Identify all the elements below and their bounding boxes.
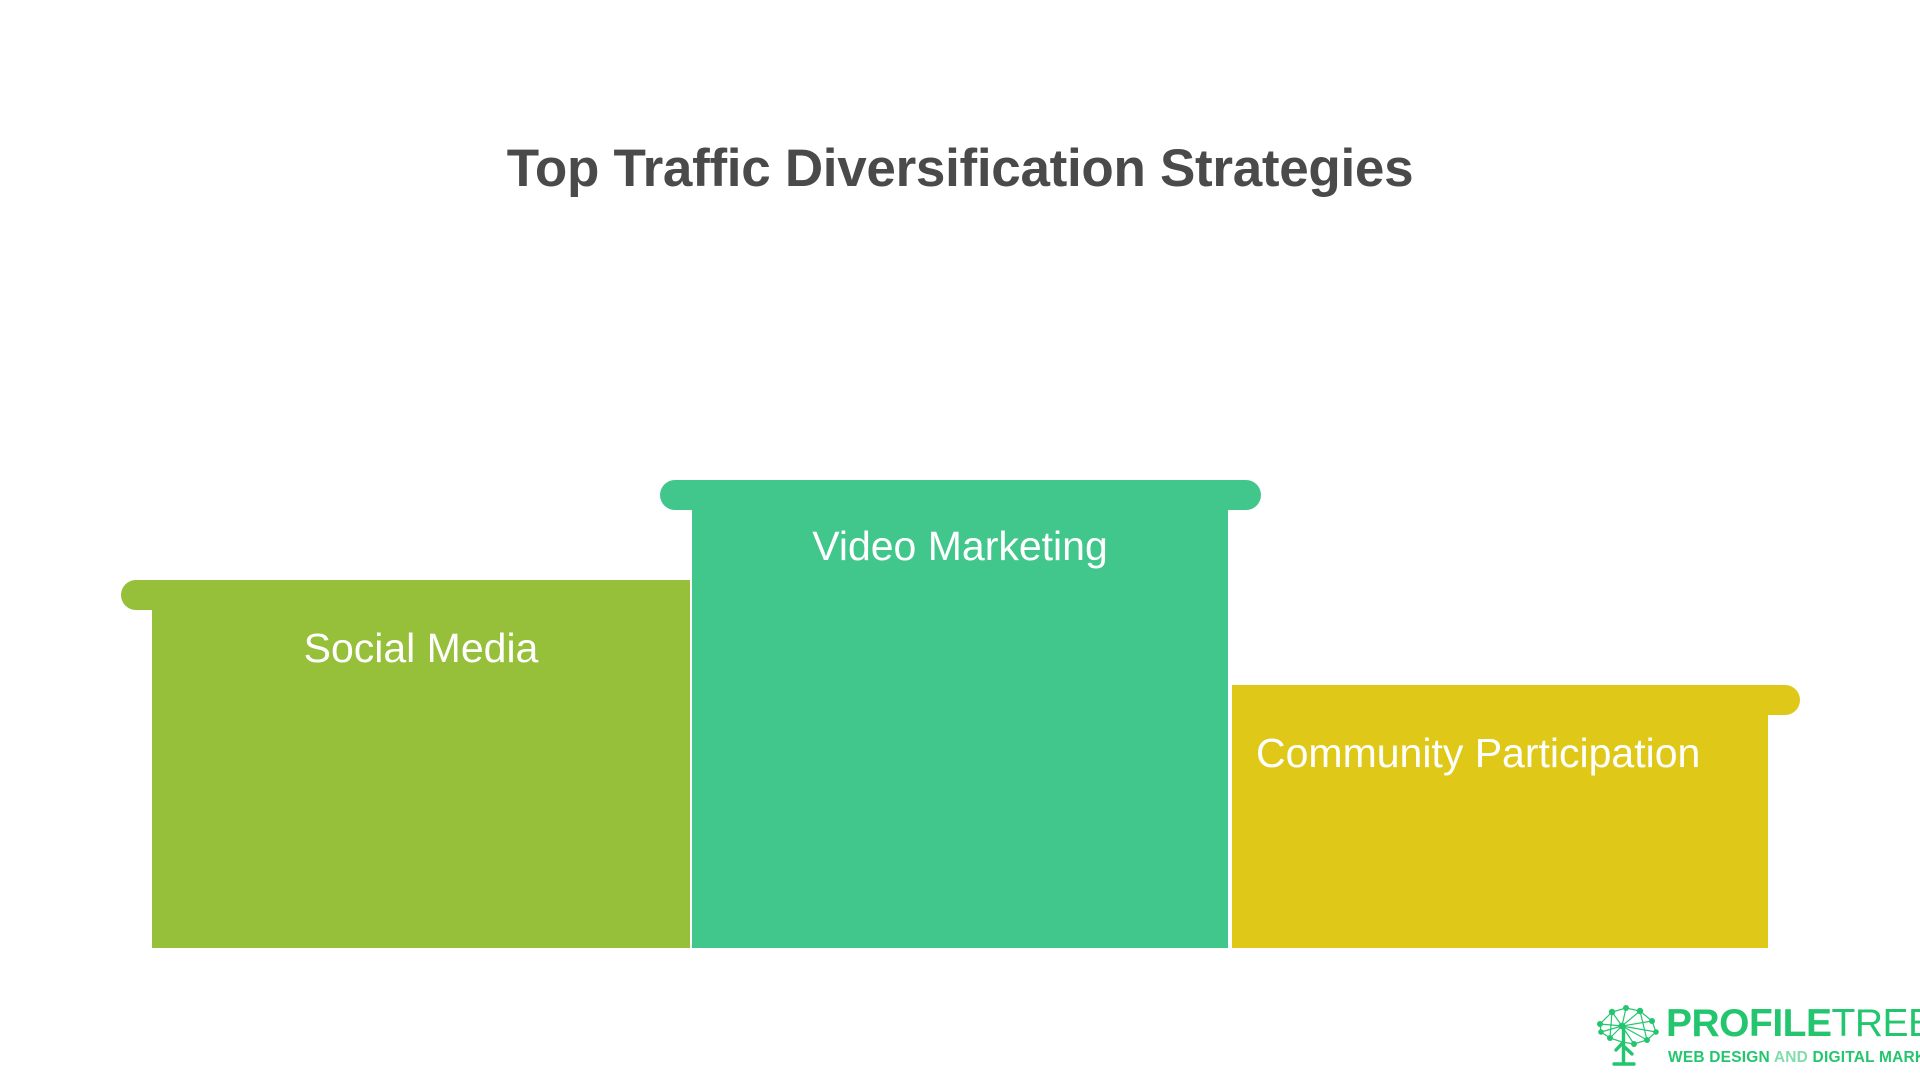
brand-word-tree: TREE bbox=[1832, 1002, 1920, 1045]
bar-label-community-participation: Community Participation bbox=[1232, 726, 1724, 781]
tree-network-icon bbox=[1592, 1002, 1664, 1068]
bar-label-video-marketing: Video Marketing bbox=[692, 519, 1228, 574]
bar-community-participation[interactable]: Community Participation bbox=[1232, 685, 1768, 948]
tagline-part-web-design: WEB DESIGN bbox=[1668, 1049, 1770, 1066]
bar-body-community-participation bbox=[1232, 685, 1768, 948]
brand-word-profile: PROFILE bbox=[1666, 1002, 1832, 1045]
brand-tagline: WEB DESIGN AND DIGITAL MARKETING bbox=[1668, 1050, 1920, 1066]
bar-social-media[interactable]: Social Media bbox=[152, 580, 690, 948]
tagline-part-digital-marketing: DIGITAL MARKETING bbox=[1813, 1049, 1920, 1066]
tagline-part-and: AND bbox=[1774, 1049, 1808, 1066]
bar-chart: Social Media Video Marketing Community P… bbox=[0, 0, 1920, 1080]
slide-canvas: Top Traffic Diversification Strategies S… bbox=[0, 0, 1920, 1080]
brand-wordmark: PROFILETREE bbox=[1666, 1004, 1920, 1043]
bar-label-social-media: Social Media bbox=[152, 621, 690, 676]
profiletree-logo: PROFILETREE WEB DESIGN AND DIGITAL MARKE… bbox=[1592, 1000, 1892, 1072]
bar-video-marketing[interactable]: Video Marketing bbox=[692, 480, 1228, 948]
